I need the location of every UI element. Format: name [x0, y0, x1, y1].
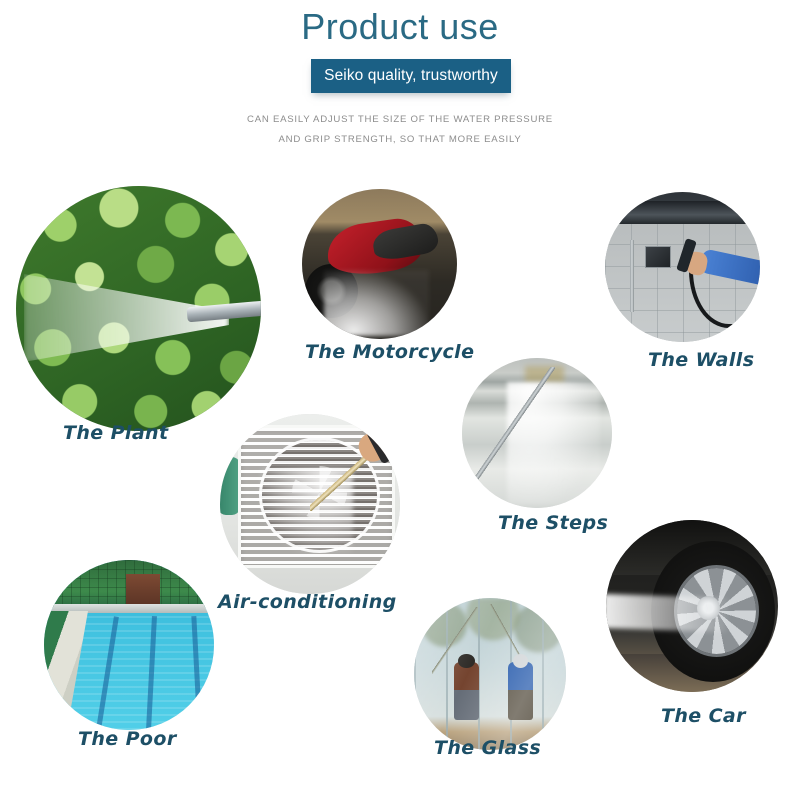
wall-pipe [630, 240, 634, 312]
car-photo-content [606, 520, 778, 692]
photo-circle-motorcycle [302, 189, 457, 339]
motorcycle-photo-content [302, 189, 457, 339]
caption-car: The Car [661, 705, 746, 727]
caption-steps: The Steps [498, 512, 608, 534]
subtitle-line-2: AND GRIP STRENGTH, SO THAT MORE EASILY [0, 134, 800, 145]
caption-plant: The Plant [63, 422, 168, 444]
photo-circle-pool [44, 560, 214, 730]
spray-lance-icon [468, 367, 555, 493]
air-conditioning-photo-content [220, 414, 400, 594]
walls-photo-content [605, 192, 760, 342]
plant-photo-content [16, 186, 261, 431]
photo-circle-plant [16, 186, 261, 431]
steps-photo-content [462, 358, 612, 508]
caption-glass: The Glass [434, 737, 541, 759]
photo-circle-glass [414, 598, 566, 750]
photo-circle-car [606, 520, 778, 692]
ceiling-duct [605, 201, 760, 224]
tagline-text: Seiko quality, trustworthy [324, 67, 498, 85]
caption-motorcycle: The Motorcycle [305, 341, 474, 363]
caption-pool: The Poor [78, 728, 177, 750]
subtitle-line-1: CAN EASILY ADJUST THE SIZE OF THE WATER … [0, 114, 800, 125]
photo-circle-walls [605, 192, 760, 342]
tagline-banner: Seiko quality, trustworthy [311, 59, 511, 93]
photo-circle-air-conditioning [220, 414, 400, 594]
caption-walls: The Walls [648, 349, 754, 371]
water-spray-icon [324, 270, 429, 336]
wall-utility-box [645, 246, 670, 268]
glass-reflection-sheen [414, 598, 566, 750]
water-spray-icon [606, 594, 727, 633]
glass-photo-content [414, 598, 566, 750]
photo-circle-steps [462, 358, 612, 508]
poolside-building [126, 574, 160, 605]
header: Product use Seiko quality, trustworthy C… [0, 0, 800, 165]
caption-air-conditioning: Air-conditioning [218, 591, 397, 613]
pool-photo-content [44, 560, 214, 730]
page-title: Product use [0, 6, 800, 48]
